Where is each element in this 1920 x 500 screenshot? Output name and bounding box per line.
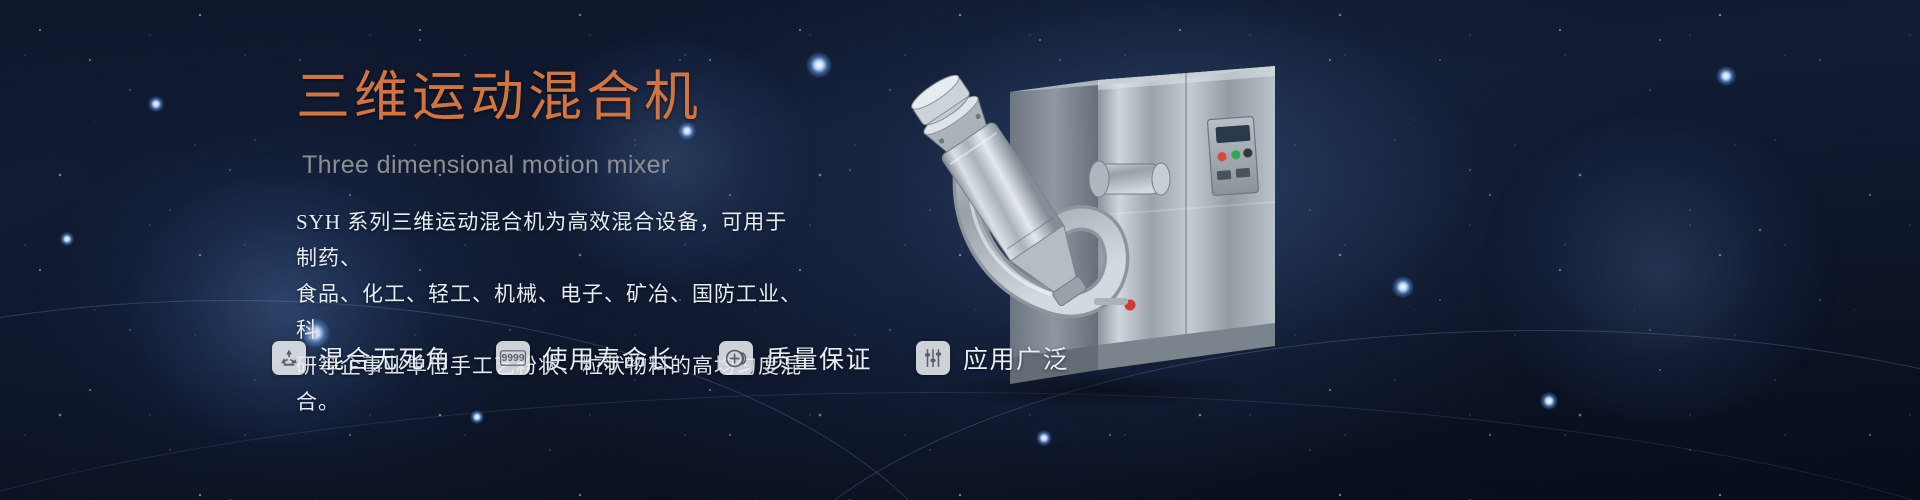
description-line-2: 食品、化工、轻工、机械、电子、矿冶、国防工业、科 <box>296 276 806 348</box>
glow-star-d <box>1392 276 1414 298</box>
feature-label: 应用广泛 <box>963 340 1069 376</box>
glow-star-f <box>148 96 164 112</box>
nebula-glow-right <box>1480 120 1840 420</box>
glow-star-g <box>1540 392 1558 410</box>
medical-plus-icon <box>719 341 753 375</box>
feature-label: 质量保证 <box>766 340 872 376</box>
feature-badge-list: 混合无死角 9999 使用寿命长 质量保证 <box>272 340 1069 376</box>
product-hero-banner: 三维运动混合机 Three dimensional motion mixer S… <box>0 0 1920 500</box>
counter-value: 9999 <box>501 353 524 364</box>
feature-item-wide-application[interactable]: 应用广泛 <box>916 340 1069 376</box>
counter-9999-icon: 9999 <box>496 341 530 375</box>
glow-star-j <box>60 232 74 246</box>
medical-plus-icon-glyph <box>725 347 748 370</box>
feature-item-long-life[interactable]: 9999 使用寿命长 <box>496 340 676 376</box>
sliders-icon <box>916 341 950 375</box>
description-line-1: SYH 系列三维运动混合机为高效混合设备，可用于制药、 <box>296 204 806 276</box>
feature-label: 混合无死角 <box>319 340 452 376</box>
product-description: SYH 系列三维运动混合机为高效混合设备，可用于制药、 食品、化工、轻工、机械、… <box>296 204 806 420</box>
glow-star-e <box>1716 66 1736 86</box>
counter-9999-icon-glyph: 9999 <box>500 349 526 367</box>
recycle-icon-glyph <box>278 347 300 369</box>
page-subtitle: Three dimensional motion mixer <box>302 148 916 182</box>
recycle-icon <box>272 341 306 375</box>
feature-item-quality-guarantee[interactable]: 质量保证 <box>719 340 872 376</box>
feature-item-no-dead-angle[interactable]: 混合无死角 <box>272 340 452 376</box>
feature-label: 使用寿命长 <box>543 340 676 376</box>
page-title: 三维运动混合机 <box>296 66 916 128</box>
glow-star-i <box>1036 430 1052 446</box>
sliders-icon-glyph <box>922 347 944 369</box>
